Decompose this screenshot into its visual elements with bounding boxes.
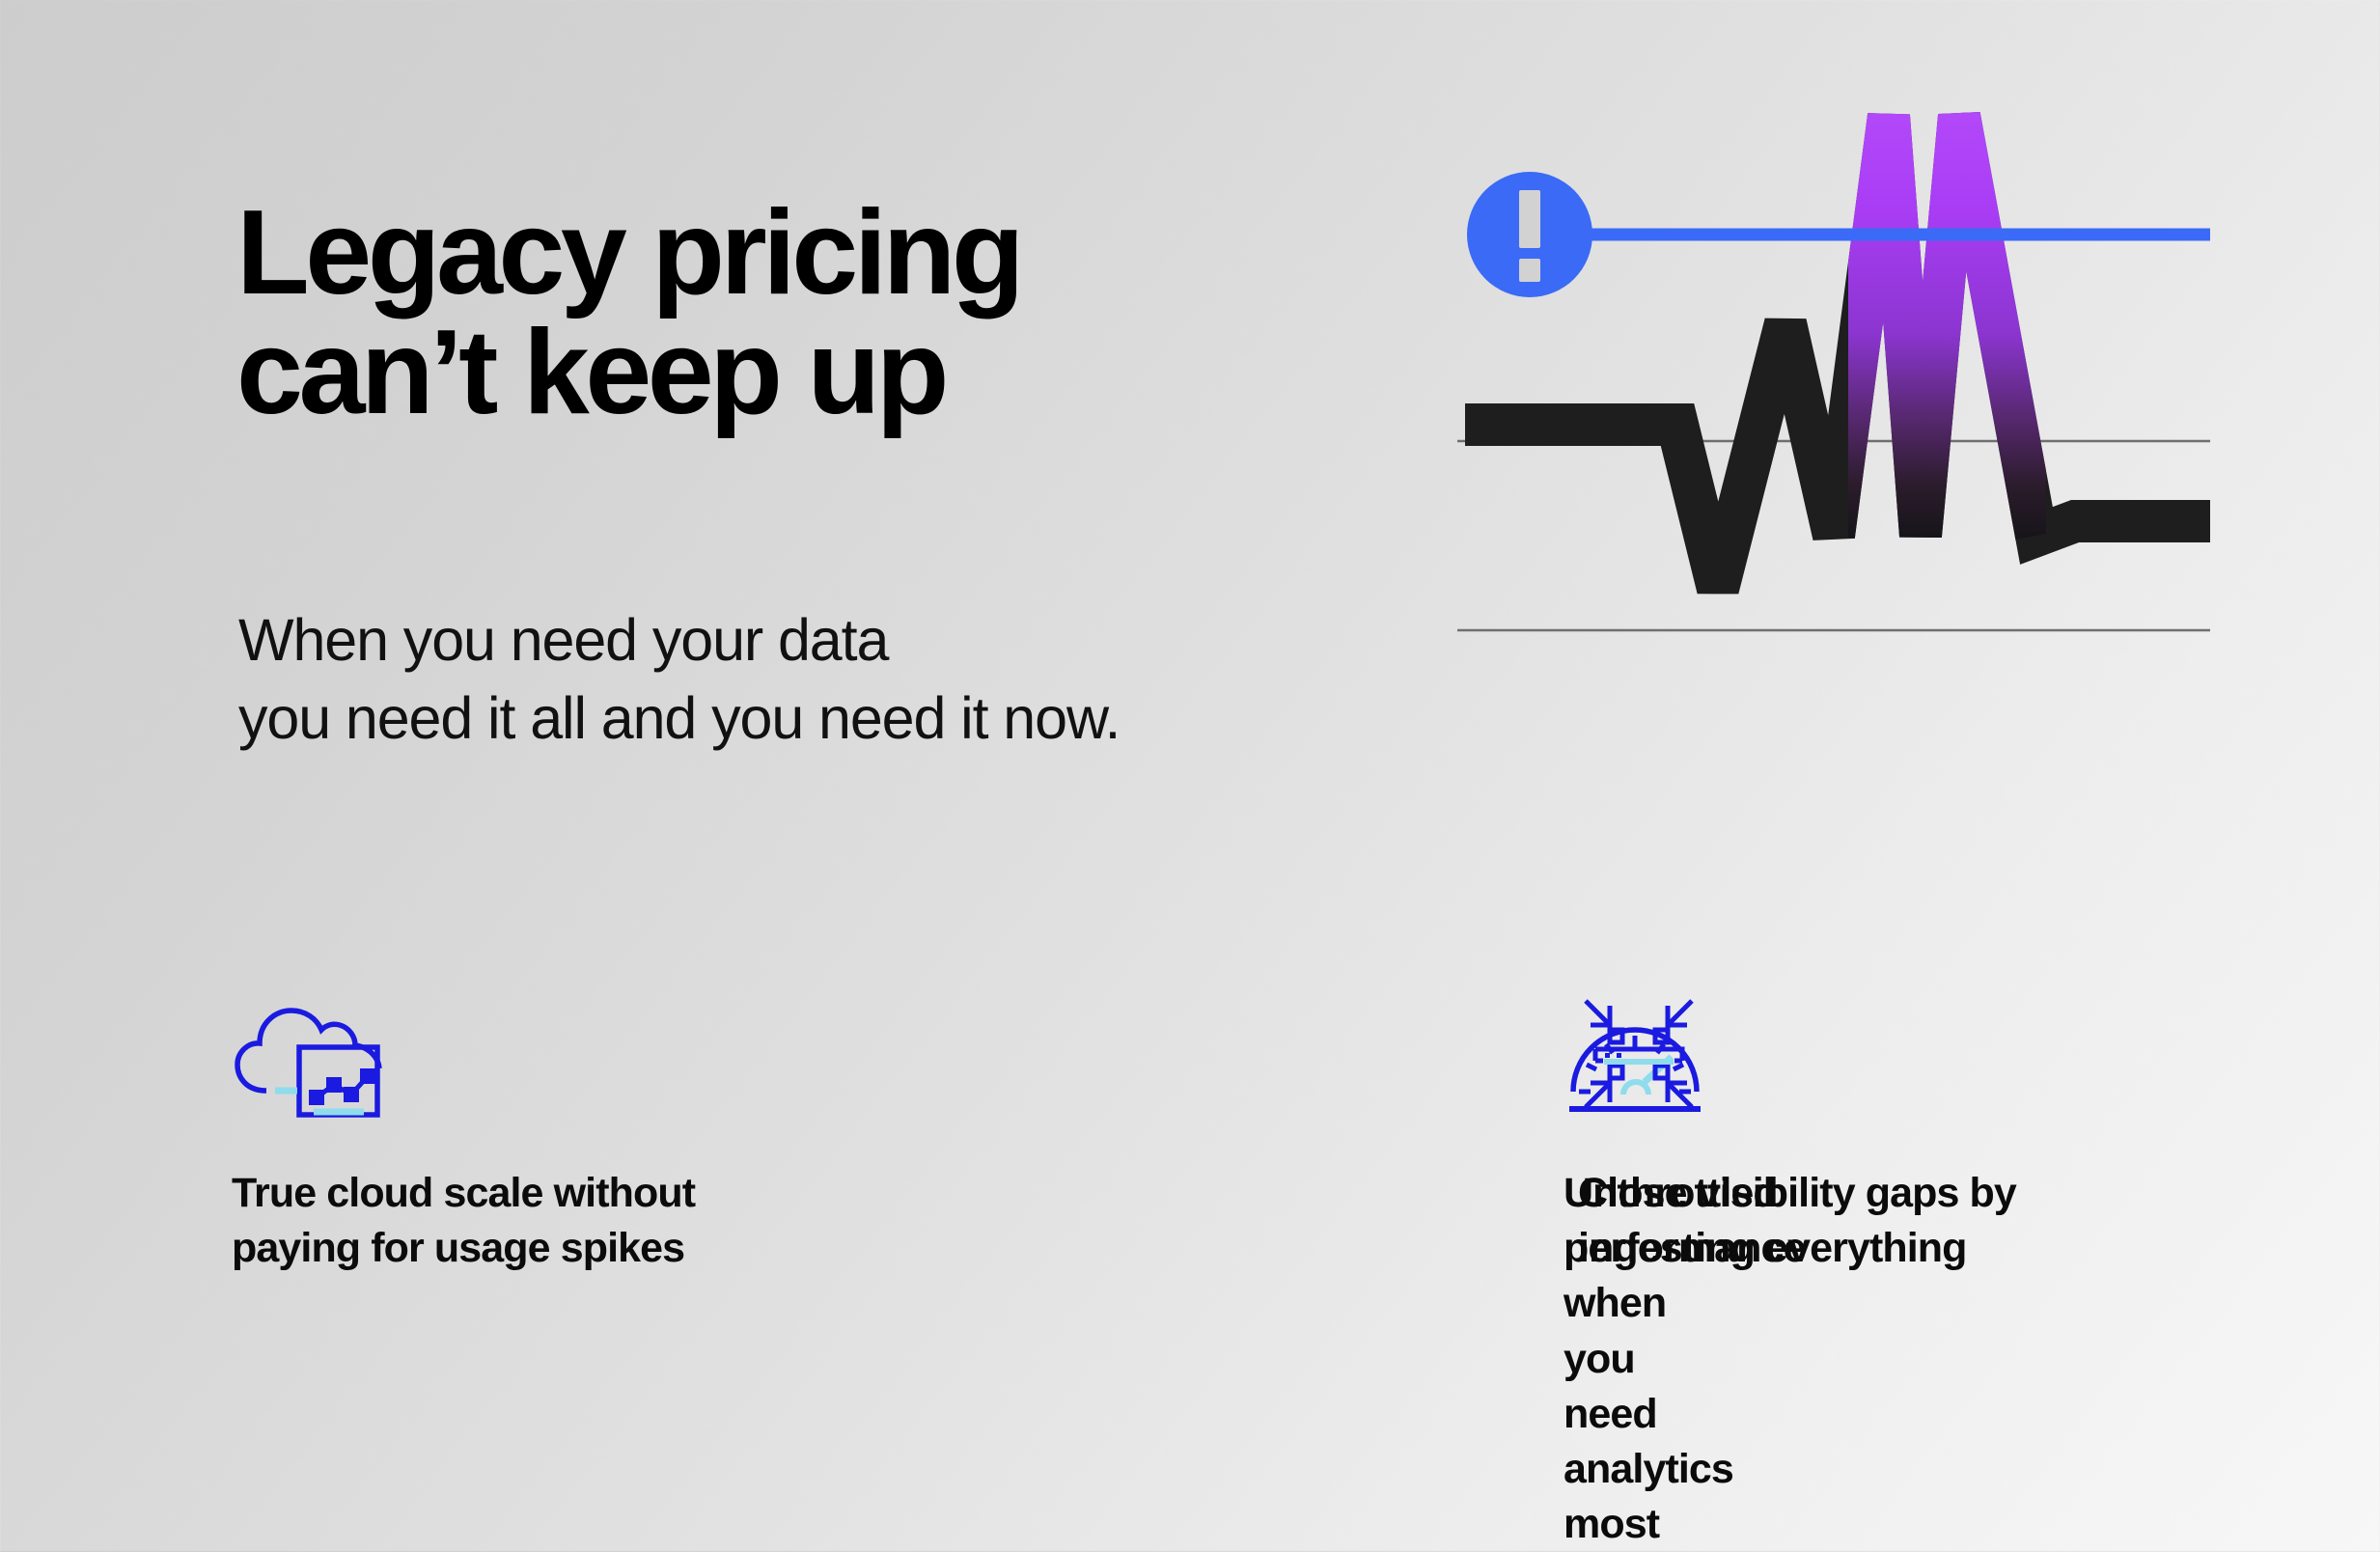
feature-item-visibility: Close visibility gaps by ingesting every… bbox=[1578, 975, 2157, 1276]
subtitle-text: When you need your data you need it all … bbox=[238, 601, 1397, 757]
page-title: Legacy pricing can’t keep up bbox=[236, 193, 1346, 432]
headline-block: Legacy pricing can’t keep up bbox=[236, 193, 1346, 432]
slide-canvas: Legacy pricing can’t keep up When you ne… bbox=[0, 0, 2380, 1551]
ingest-converge-icon bbox=[1578, 975, 2157, 1115]
usage-line bbox=[1465, 116, 2210, 589]
cloud-chart-icon bbox=[232, 975, 811, 1115]
feature-label: Close visibility gaps by ingesting every… bbox=[1578, 1166, 2157, 1276]
feature-label: True cloud scale without paying for usag… bbox=[232, 1166, 811, 1276]
hero-chart bbox=[1448, 82, 2239, 700]
alert-badge bbox=[1467, 172, 1592, 297]
feature-item-cloud-scale: True cloud scale without paying for usag… bbox=[232, 975, 811, 1276]
feature-item-performance: Unthrottled performance when you need an… bbox=[898, 975, 1564, 1552]
usage-spike-highlight bbox=[1834, 116, 2036, 536]
subhead-block: When you need your data you need it all … bbox=[238, 601, 1397, 757]
